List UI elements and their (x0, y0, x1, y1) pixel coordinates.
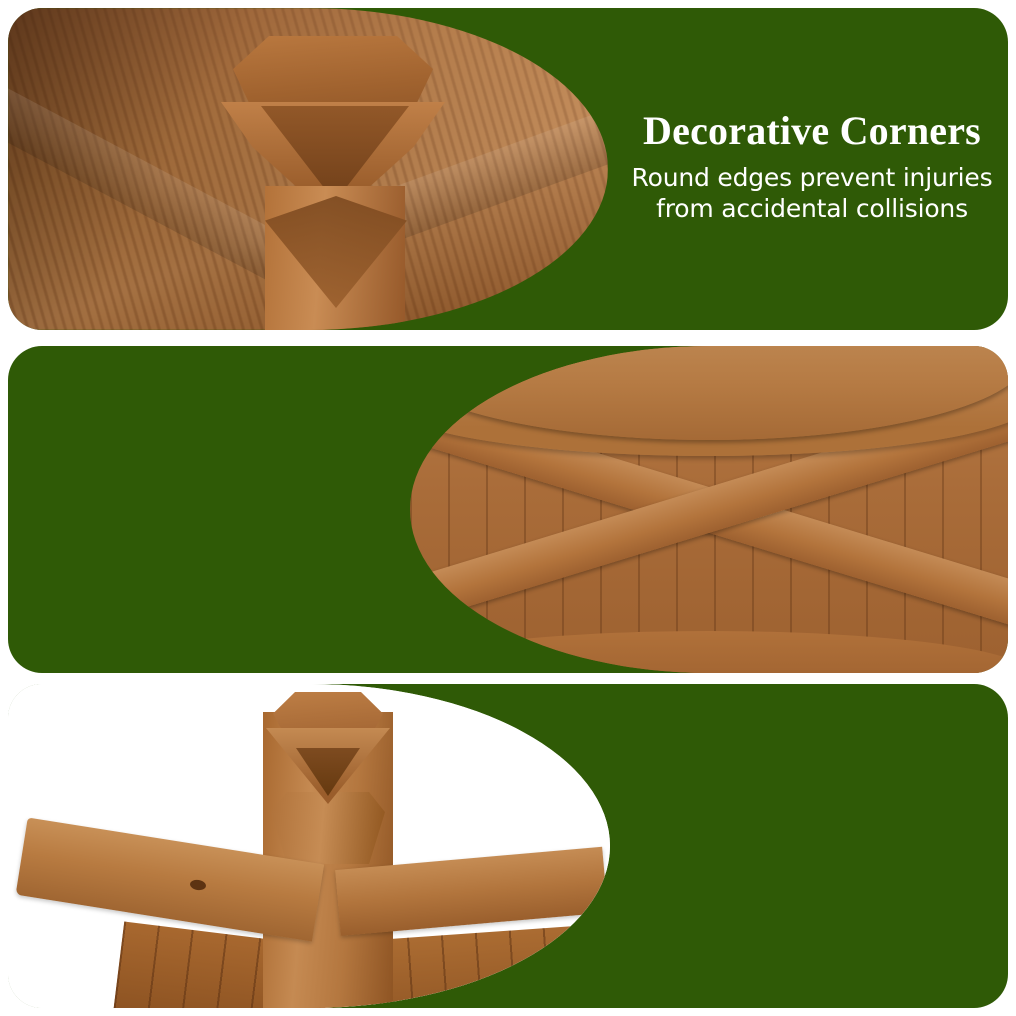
panel-1-text-block: Decorative Corners Round edges prevent i… (608, 108, 1008, 224)
feature-panel-decorative-corners: Decorative Corners Round edges prevent i… (8, 8, 1008, 330)
feature-panel-x-shaped-patterns: X-shaped Patterns Add a touch of eleganc… (8, 346, 1008, 673)
feature-panel-slotted-legs: Convenient Slotted Legs Easy and effortl… (8, 684, 1008, 1008)
slat-panel-right (373, 924, 609, 1008)
product-photo-slotted-legs (8, 684, 610, 1008)
decorative-post-cap (203, 36, 463, 326)
panel-1-headline: Decorative Corners (608, 108, 1008, 154)
panel-1-subline: Round edges prevent injuries from accide… (608, 162, 1008, 224)
product-photo-x-brace (410, 346, 1008, 673)
product-photo-post-cap (8, 8, 608, 330)
feature-infographic: Decorative Corners Round edges prevent i… (0, 0, 1016, 1016)
